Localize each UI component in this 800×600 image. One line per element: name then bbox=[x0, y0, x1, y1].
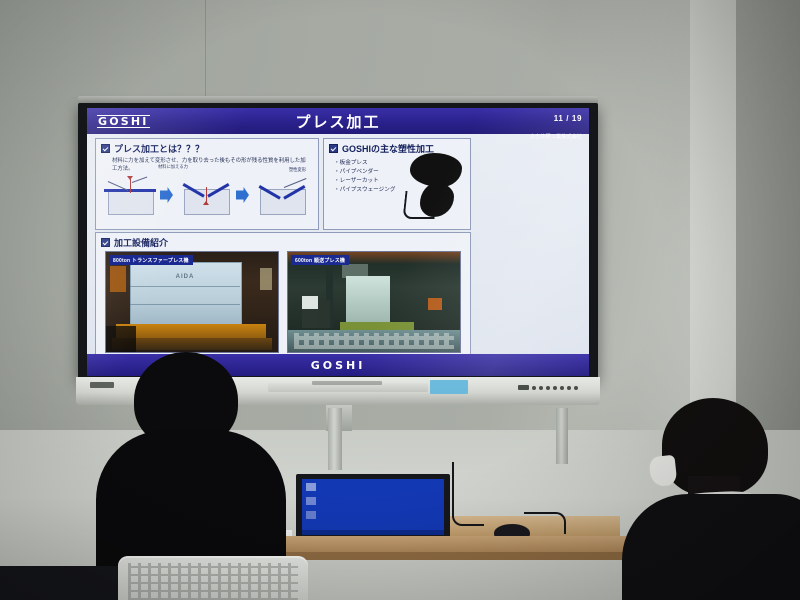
display-stand-pole-left bbox=[328, 408, 342, 470]
product-photo-collage bbox=[406, 153, 464, 221]
panel-bottom-heading-text: 加工設備紹介 bbox=[114, 236, 168, 249]
control-dot-icon[interactable] bbox=[539, 386, 543, 390]
panel-equipment: 加工設備紹介 800ton トランスファープレス機 AIDA bbox=[95, 232, 471, 364]
factory-worker-2 bbox=[318, 300, 330, 328]
machine-brand-label: AIDA bbox=[130, 274, 240, 280]
bending-process-diagram: 塑性変形 材料に加える力 bbox=[102, 171, 312, 215]
factory-light-right bbox=[260, 268, 272, 290]
control-dot-icon[interactable] bbox=[574, 386, 578, 390]
foreground-shadow bbox=[106, 326, 136, 352]
slide-header: GOSHI プレス加工 11 / 19 合志技研工業株式会社 bbox=[87, 108, 589, 134]
photo-caption-2: 600ton 順送プレス機 bbox=[291, 255, 349, 265]
display-model-label bbox=[312, 381, 382, 385]
display-sticker bbox=[430, 380, 468, 394]
control-dot-icon[interactable] bbox=[546, 386, 550, 390]
process-arrow-1-icon bbox=[160, 187, 173, 203]
checkbox-bullet-icon bbox=[101, 238, 110, 247]
progressive-press-body bbox=[346, 276, 390, 322]
diagram-stage-2 bbox=[178, 175, 234, 215]
presentation-slide: GOSHI プレス加工 11 / 19 合志技研工業株式会社 プレス加工とは？？… bbox=[87, 108, 589, 376]
checkbox-bullet-icon bbox=[101, 144, 110, 153]
slide-page-number: 11 / 19 bbox=[554, 114, 582, 123]
force-arrow-1 bbox=[127, 176, 133, 180]
control-dot-icon[interactable] bbox=[567, 386, 571, 390]
slide-header-right: 11 / 19 合志技研工業株式会社 bbox=[530, 109, 582, 143]
display-screen[interactable]: GOSHI プレス加工 11 / 19 合志技研工業株式会社 プレス加工とは？？… bbox=[87, 108, 589, 376]
leader-line-2 bbox=[132, 177, 147, 183]
meeting-room-scene: GOSHI プレス加工 11 / 19 合志技研工業株式会社 プレス加工とは？？… bbox=[0, 0, 800, 600]
diagram-stage-1 bbox=[102, 175, 158, 215]
company-name: 合志技研工業株式会社 bbox=[530, 134, 582, 140]
process-arrow-2-icon bbox=[236, 187, 249, 203]
goshi-logo-footer: GOSHI bbox=[311, 359, 366, 372]
factory-light-left bbox=[110, 266, 126, 292]
press-seam-2 bbox=[130, 304, 240, 305]
control-dot-icon[interactable] bbox=[560, 386, 564, 390]
equipment-photo-row: 800ton トランスファープレス機 AIDA bbox=[105, 251, 461, 355]
laptop[interactable] bbox=[296, 474, 450, 540]
panel-press-definition: プレス加工とは？？？ 材料に力を加えて変形させ、力を取り去った後もその形が残る性… bbox=[95, 138, 319, 230]
attendee-right-body bbox=[622, 494, 800, 600]
chair-backrest bbox=[118, 556, 308, 600]
parts-tray bbox=[288, 330, 460, 352]
diagram-stage-3 bbox=[254, 175, 310, 215]
diagram-label-right: 塑性変形 bbox=[289, 167, 306, 173]
floor-shadow bbox=[0, 566, 130, 600]
press-seam-1 bbox=[130, 286, 240, 287]
factory-worker-1 bbox=[302, 296, 318, 328]
diagram-label-top: 材料に加える力 bbox=[158, 164, 188, 170]
cable-curved bbox=[524, 512, 566, 534]
face-mask bbox=[649, 455, 678, 488]
press-machine-body bbox=[130, 262, 242, 326]
display-bezel: GOSHI プレス加工 11 / 19 合志技研工業株式会社 プレス加工とは？？… bbox=[78, 103, 598, 379]
equipment-panel bbox=[428, 298, 442, 310]
equipment-photo-1: 800ton トランスファープレス機 AIDA bbox=[105, 251, 279, 353]
sheet-metal-formed bbox=[262, 185, 302, 205]
power-button-icon[interactable] bbox=[518, 385, 529, 390]
press-base-lower bbox=[112, 338, 272, 350]
control-dot-icon[interactable] bbox=[553, 386, 557, 390]
die-block-1 bbox=[108, 189, 154, 215]
slide-title: プレス加工 bbox=[87, 111, 589, 132]
photo-caption-1: 800ton トランスファープレス機 bbox=[109, 255, 193, 265]
bent-pipe-icon bbox=[403, 191, 438, 219]
laptop-taskbar[interactable] bbox=[302, 530, 444, 535]
attendee-right bbox=[628, 398, 800, 600]
product-shape-upper bbox=[410, 153, 462, 187]
equipment-photo-2: 600ton 順送プレス機 bbox=[287, 251, 461, 353]
panel-left-heading: プレス加工とは？？？ bbox=[96, 139, 318, 155]
display-stand-pole-right bbox=[556, 408, 568, 464]
cable-vertical bbox=[452, 462, 484, 526]
panel-goshi-processes: GOSHIの主な塑性加工 ・板金プレス ・パイプベンダー ・レーザーカット ・パ… bbox=[323, 138, 471, 230]
laptop-screen[interactable] bbox=[302, 479, 444, 531]
display-control-buttons[interactable] bbox=[518, 384, 594, 391]
force-arrow-2 bbox=[203, 201, 209, 205]
checkbox-bullet-icon bbox=[329, 144, 338, 153]
panel-left-heading-text: プレス加工とは？？？ bbox=[114, 142, 204, 155]
panel-bottom-heading: 加工設備紹介 bbox=[96, 233, 470, 249]
control-dot-icon[interactable] bbox=[532, 386, 536, 390]
